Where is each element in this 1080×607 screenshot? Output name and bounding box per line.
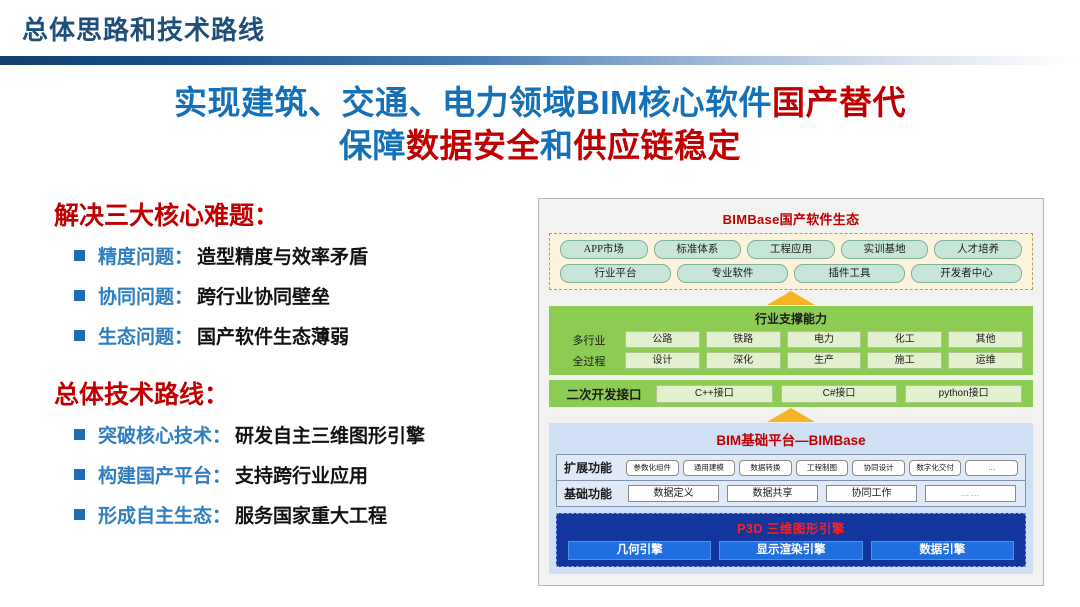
bullet-separator: ： bbox=[174, 282, 193, 309]
headline-line2-blue-b: 和 bbox=[540, 127, 574, 164]
ecosystem-chip[interactable]: 标准体系 bbox=[654, 240, 742, 259]
square-bullet-icon bbox=[74, 330, 85, 341]
api-layer-label: 二次开发接口 bbox=[556, 384, 652, 403]
list-item: 生态问题 ： 国产软件生态薄弱 bbox=[74, 322, 530, 349]
ecosystem-chip[interactable]: 行业平台 bbox=[560, 264, 671, 283]
extended-function-chip-more[interactable]: … bbox=[965, 460, 1018, 476]
basic-functions-label: 基础功能 bbox=[562, 485, 624, 502]
headline-line2-red-a: 数据安全 bbox=[406, 127, 540, 164]
engine-chip[interactable]: 显示渲染引擎 bbox=[719, 541, 862, 560]
bullet-list-problems: 精度问题 ： 造型精度与效率矛盾 协同问题 ： 跨行业协同壁垒 生态问题 ： 国… bbox=[74, 242, 530, 349]
section-technical-routes: 总体技术路线： 突破核心技术 ： 研发自主三维图形引擎 构建国产平台 ： 支持跨… bbox=[0, 375, 530, 528]
bim-base-platform-layer: BIM基础平台—BIMBase 扩展功能 参数化组件 通用建模 数据转换 工程制… bbox=[549, 423, 1033, 574]
extended-functions-row: 扩展功能 参数化组件 通用建模 数据转换 工程制图 协同设计 数字化交付 … bbox=[557, 455, 1025, 481]
support-chip[interactable]: 公路 bbox=[625, 331, 700, 348]
ecosystem-chip[interactable]: APP市场 bbox=[560, 240, 648, 259]
arrow-up-icon-platform bbox=[767, 408, 815, 422]
ecosystem-chip[interactable]: 插件工具 bbox=[794, 264, 905, 283]
support-chip[interactable]: 铁路 bbox=[706, 331, 781, 348]
support-chip[interactable]: 生产 bbox=[787, 352, 862, 369]
bullet-key: 突破核心技术 bbox=[98, 421, 212, 448]
support-chip[interactable]: 其他 bbox=[948, 331, 1023, 348]
bullet-separator: ： bbox=[174, 242, 193, 269]
list-item: 构建国产平台 ： 支持跨行业应用 bbox=[74, 461, 530, 488]
ecosystem-chip[interactable]: 工程应用 bbox=[747, 240, 835, 259]
page-title: 总体思路和技术路线 bbox=[22, 10, 265, 47]
bullet-separator: ： bbox=[212, 501, 231, 528]
architecture-diagram-panel: BIMBase国产软件生态 APP市场 标准体系 工程应用 实训基地 人才培养 … bbox=[538, 198, 1044, 586]
support-chip[interactable]: 设计 bbox=[625, 352, 700, 369]
bullet-key: 形成自主生态 bbox=[98, 501, 212, 528]
section-heading-routes: 总体技术路线： bbox=[54, 375, 530, 411]
square-bullet-icon bbox=[74, 290, 85, 301]
support-row-label: 全过程 bbox=[556, 353, 622, 369]
square-bullet-icon bbox=[74, 250, 85, 261]
square-bullet-icon bbox=[74, 429, 85, 440]
industry-support-layer: 行业支撑能力 多行业 公路 铁路 电力 化工 其他 全过程 设计 深化 生产 施… bbox=[549, 306, 1033, 375]
api-chip[interactable]: C++接口 bbox=[656, 385, 773, 403]
support-chip[interactable]: 运维 bbox=[948, 352, 1023, 369]
list-item: 突破核心技术 ： 研发自主三维图形引擎 bbox=[74, 421, 530, 448]
list-item: 协同问题 ： 跨行业协同壁垒 bbox=[74, 282, 530, 309]
bullet-key: 构建国产平台 bbox=[98, 461, 212, 488]
basic-functions-row: 基础功能 数据定义 数据共享 协同工作 …… bbox=[557, 481, 1025, 506]
bullet-key: 生态问题 bbox=[98, 322, 174, 349]
extended-function-chip[interactable]: 通用建模 bbox=[683, 460, 736, 476]
extended-functions-label: 扩展功能 bbox=[562, 459, 624, 476]
headline-block: 实现建筑、交通、电力领域BIM核心软件国产替代 保障数据安全和供应链稳定 bbox=[0, 82, 1080, 168]
ecosystem-row-2: 行业平台 专业软件 插件工具 开发者中心 bbox=[557, 264, 1025, 283]
api-chip[interactable]: python接口 bbox=[905, 385, 1022, 403]
support-chip[interactable]: 电力 bbox=[787, 331, 862, 348]
ecosystem-chip[interactable]: 开发者中心 bbox=[911, 264, 1022, 283]
extended-function-chip[interactable]: 协同设计 bbox=[852, 460, 905, 476]
support-row-label: 多行业 bbox=[556, 332, 622, 348]
bullet-key: 协同问题 bbox=[98, 282, 174, 309]
extended-function-chip[interactable]: 数据转换 bbox=[739, 460, 792, 476]
slide-header: 总体思路和技术路线 bbox=[0, 0, 1080, 62]
headline-line1-red: 国产替代 bbox=[772, 84, 906, 121]
bullet-key: 精度问题 bbox=[98, 242, 174, 269]
headline-line2-red-b: 供应链稳定 bbox=[574, 127, 742, 164]
support-row-multi-industry: 多行业 公路 铁路 电力 化工 其他 bbox=[556, 331, 1026, 348]
basic-function-chip[interactable]: 协同工作 bbox=[826, 485, 917, 502]
basic-function-chip[interactable]: 数据共享 bbox=[727, 485, 818, 502]
bullet-value: 国产软件生态薄弱 bbox=[197, 322, 349, 349]
p3d-graphics-engine-layer: P3D 三维图形引擎 几何引擎 显示渲染引擎 数据引擎 bbox=[556, 513, 1026, 567]
headline-line-1: 实现建筑、交通、电力领域BIM核心软件国产替代 bbox=[0, 82, 1080, 125]
support-chip[interactable]: 化工 bbox=[867, 331, 942, 348]
basic-function-chip-more[interactable]: …… bbox=[925, 485, 1016, 502]
headline-line1-blue: 实现建筑、交通、电力领域BIM核心软件 bbox=[174, 84, 772, 121]
bullet-separator: ： bbox=[212, 421, 231, 448]
square-bullet-icon bbox=[74, 509, 85, 520]
platform-title: BIM基础平台—BIMBase bbox=[556, 429, 1026, 449]
list-item: 精度问题 ： 造型精度与效率矛盾 bbox=[74, 242, 530, 269]
bullet-value: 服务国家重大工程 bbox=[235, 501, 387, 528]
headline-line-2: 保障数据安全和供应链稳定 bbox=[0, 125, 1080, 168]
bullet-value: 支持跨行业应用 bbox=[235, 461, 368, 488]
ecosystem-title: BIMBase国产软件生态 bbox=[549, 209, 1033, 228]
extended-function-chip[interactable]: 参数化组件 bbox=[626, 460, 679, 476]
api-chip[interactable]: C#接口 bbox=[781, 385, 898, 403]
bullet-list-routes: 突破核心技术 ： 研发自主三维图形引擎 构建国产平台 ： 支持跨行业应用 形成自… bbox=[74, 421, 530, 528]
left-content-column: 解决三大核心难题： 精度问题 ： 造型精度与效率矛盾 协同问题 ： 跨行业协同壁… bbox=[0, 196, 530, 596]
extended-function-chip[interactable]: 数字化交付 bbox=[909, 460, 962, 476]
engine-title: P3D 三维图形引擎 bbox=[564, 518, 1018, 537]
bullet-value: 造型精度与效率矛盾 bbox=[197, 242, 368, 269]
engine-chip[interactable]: 数据引擎 bbox=[871, 541, 1014, 560]
square-bullet-icon bbox=[74, 469, 85, 480]
arrow-up-icon-ecosystem bbox=[767, 291, 815, 305]
engine-chip[interactable]: 几何引擎 bbox=[568, 541, 711, 560]
secondary-development-api-layer: 二次开发接口 C++接口 C#接口 python接口 bbox=[549, 380, 1033, 407]
support-chip[interactable]: 深化 bbox=[706, 352, 781, 369]
bullet-separator: ： bbox=[212, 461, 231, 488]
bullet-value: 跨行业协同壁垒 bbox=[197, 282, 330, 309]
support-row-full-process: 全过程 设计 深化 生产 施工 运维 bbox=[556, 352, 1026, 369]
bullet-value: 研发自主三维图形引擎 bbox=[235, 421, 425, 448]
ecosystem-chip[interactable]: 实训基地 bbox=[841, 240, 929, 259]
ecosystem-chip[interactable]: 专业软件 bbox=[677, 264, 788, 283]
support-chip[interactable]: 施工 bbox=[867, 352, 942, 369]
industry-support-title: 行业支撑能力 bbox=[556, 310, 1026, 327]
headline-line2-blue-a: 保障 bbox=[339, 127, 406, 164]
extended-function-chip[interactable]: 工程制图 bbox=[796, 460, 849, 476]
engine-chip-row: 几何引擎 显示渲染引擎 数据引擎 bbox=[564, 541, 1018, 560]
section-core-problems: 解决三大核心难题： 精度问题 ： 造型精度与效率矛盾 协同问题 ： 跨行业协同壁… bbox=[0, 196, 530, 349]
ecosystem-chip[interactable]: 人才培养 bbox=[934, 240, 1022, 259]
list-item: 形成自主生态 ： 服务国家重大工程 bbox=[74, 501, 530, 528]
bullet-separator: ： bbox=[174, 322, 193, 349]
platform-functions-wrapper: 扩展功能 参数化组件 通用建模 数据转换 工程制图 协同设计 数字化交付 … 基… bbox=[556, 454, 1026, 507]
ecosystem-row-1: APP市场 标准体系 工程应用 实训基地 人才培养 bbox=[557, 240, 1025, 259]
header-divider-rule bbox=[0, 56, 1080, 65]
section-heading-problems: 解决三大核心难题： bbox=[54, 196, 530, 232]
basic-function-chip[interactable]: 数据定义 bbox=[628, 485, 719, 502]
ecosystem-layer: APP市场 标准体系 工程应用 实训基地 人才培养 行业平台 专业软件 插件工具… bbox=[549, 233, 1033, 290]
